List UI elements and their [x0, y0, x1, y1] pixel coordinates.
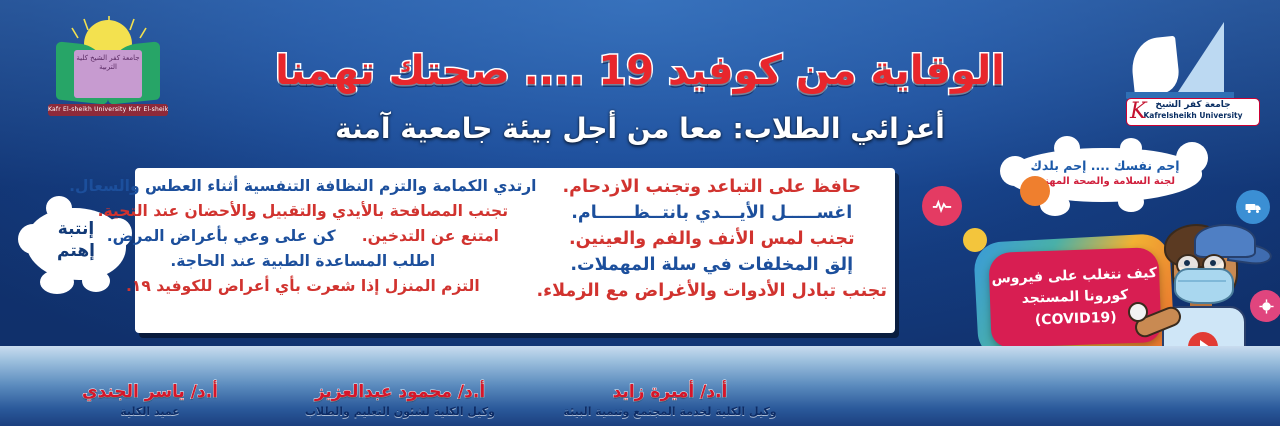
advice-column-left: ارتدي الكمامة والتزم النظافة التنفسية أث… — [69, 174, 536, 327]
signature-role: عميد الكلية — [10, 404, 290, 420]
advice-tip: حافظ على التباعد وتجنب الازدحام. — [537, 174, 888, 200]
boy-eye-right — [1210, 260, 1216, 266]
splash-blob-icon — [46, 196, 72, 220]
boy-gloved-hand — [1128, 302, 1148, 322]
signature-block: أ.د/ ياسر الجندي عميد الكلية — [10, 380, 290, 420]
advice-tip: اغســـــل الأيـــدي بانتــظــــــام. — [537, 200, 888, 226]
face-mask-fold — [1178, 280, 1226, 282]
heartbeat-icon — [922, 186, 962, 226]
splash-blob-icon — [1054, 136, 1080, 160]
signature-bar: أ.د/ ياسر الجندي عميد الكلية أ.د/ محمود … — [0, 346, 1280, 426]
signature-block: أ.د/ أميرة زايد وكيل الكلية لخدمة المجتم… — [530, 380, 810, 420]
signature-role: وكيل الكلية لخدمة المجتمع وتنمية البيئة — [530, 404, 810, 420]
advice-tip: تجنب لمس الأنف والفم والعينين. — [537, 226, 888, 252]
signature-block: أ.د/ محمود عبدالعزيز وكيل الكلية لشئون ا… — [260, 380, 540, 420]
university-name-arabic: جامعة كفر الشيخ — [1127, 99, 1259, 111]
protect-slogan: إحم نفسك .... إحم بلدك — [1000, 158, 1210, 173]
advice-tip: إلق المخلفات في سلة المهملات. — [537, 252, 888, 278]
advice-tip: ارتدي الكمامة والتزم النظافة التنفسية أث… — [69, 174, 536, 199]
advice-tip: اطلب المساعدة الطبية عند الحاجة. — [69, 249, 536, 274]
face-mask-icon — [1174, 268, 1234, 304]
advice-tip: تجنب المصافحة بالأيدي والتقبيل والأحضان … — [69, 199, 536, 224]
splash-blob-icon — [1120, 138, 1142, 158]
signature-role: وكيل الكلية لشئون التعليم والطلاب — [260, 404, 540, 420]
advice-tip: التزم المنزل إذا شعرت بأي أعراض للكوفيد … — [69, 274, 536, 299]
advice-tip: امتنع عن التدخين. — [362, 224, 499, 249]
advice-tip: كن على وعي بأعراض المرض. — [107, 224, 336, 249]
dot-orange-icon — [1020, 176, 1050, 206]
advice-tip: تجنب تبادل الأدوات والأغراض مع الزملاء. — [537, 278, 888, 304]
covid-prevention-banner: جامعة كفر الشيخ كلية التربية Kafr El-she… — [0, 0, 1280, 426]
boy-eye-left — [1184, 260, 1190, 266]
signature-name: أ.د/ ياسر الجندي — [10, 380, 290, 404]
page-title: الوقاية من كوفيد 19 .... صحتك تهمنا — [0, 48, 1280, 94]
advice-card: حافظ على التباعد وتجنب الازدحام. اغســــ… — [135, 168, 895, 333]
cap-icon — [1194, 224, 1256, 258]
advice-column-right: حافظ على التباعد وتجنب الازدحام. اغســــ… — [537, 174, 888, 327]
advice-tip-pair: امتنع عن التدخين. كن على وعي بأعراض المر… — [69, 224, 536, 249]
signature-name: أ.د/ أميرة زايد — [530, 380, 810, 404]
signature-name: أ.د/ محمود عبدالعزيز — [260, 380, 540, 404]
